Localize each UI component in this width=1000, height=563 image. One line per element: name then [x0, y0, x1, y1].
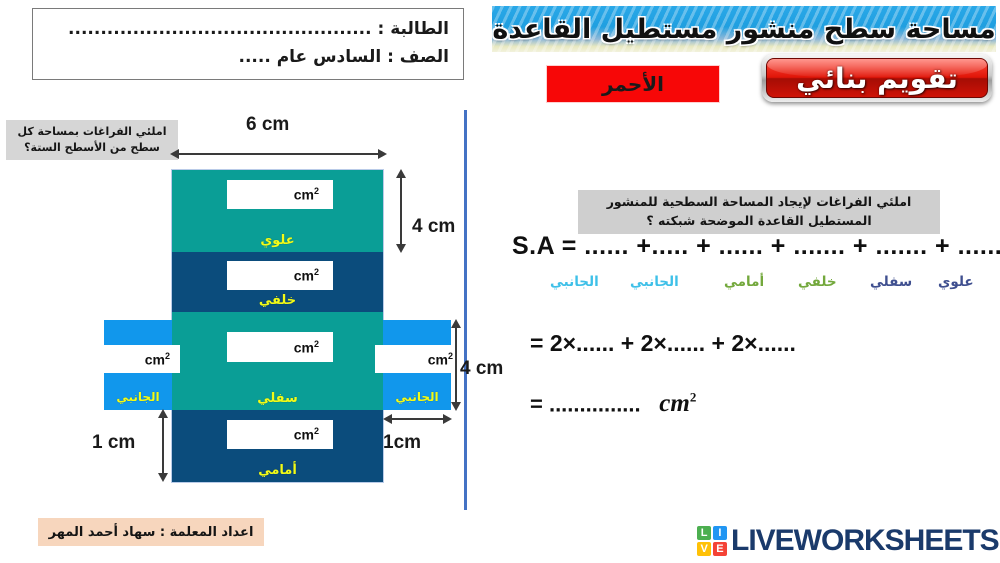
- teacher-credit-text: اعداد المعلمة : سهاد أحمد المهر: [49, 525, 254, 540]
- logo-cell-l: L: [697, 526, 711, 540]
- net-face-side-right-label: الجانبي: [383, 390, 451, 404]
- logo-cell-v: V: [697, 542, 711, 556]
- equation-term-labels: علوي سفلي خلفي أمامي الجانبي الجانبي: [550, 274, 998, 298]
- title-banner: مساحة سطح منشور مستطيل القاعدة: [492, 6, 996, 52]
- equation-line-3-unit: cm2: [647, 390, 697, 417]
- right-instruction-text: املئي الفراغات لإيجاد المساحة السطحية لل…: [588, 193, 930, 231]
- arrow-right-bottom-right: [443, 414, 452, 424]
- arrow-left-top: [170, 149, 179, 159]
- formative-evaluation-button[interactable]: تقويم بنائي: [762, 54, 992, 102]
- net-face-top-label: علوي: [172, 233, 383, 248]
- arrow-up-right-lower: [451, 319, 461, 328]
- unit-label-bottom: cm2: [294, 339, 319, 356]
- page-title: مساحة سطح منشور مستطيل القاعدة: [492, 14, 995, 45]
- equation-term-label-front: أمامي: [724, 274, 764, 290]
- red-label-box: الأحمر: [546, 65, 720, 103]
- answer-input-back[interactable]: cm2: [227, 261, 333, 290]
- liveworksheets-wordmark: LIVEWORKSHEETS: [731, 524, 999, 558]
- unit-label-side-right: cm2: [428, 351, 453, 368]
- logo-cell-i: I: [713, 526, 727, 540]
- equation-term-label-side-1: الجانبي: [630, 274, 679, 290]
- student-class-field[interactable]: الصف : السادس عام .....: [47, 43, 449, 71]
- equation-line-2[interactable]: = 2×...... + 2×...... + 2×......: [530, 330, 796, 357]
- net-face-front-label: أمامي: [172, 463, 383, 478]
- answer-input-front[interactable]: cm2: [227, 420, 333, 449]
- student-name-field[interactable]: الطالبة : ..............................…: [47, 15, 449, 43]
- prism-net-diagram: علوي خلفي سفلي أمامي الجانبي الجانبي cm2…: [0, 100, 464, 510]
- right-instruction-box: املئي الفراغات لإيجاد المساحة السطحية لل…: [578, 190, 940, 234]
- teacher-credit-box: اعداد المعلمة : سهاد أحمد المهر: [38, 518, 264, 546]
- formative-evaluation-label: تقويم بنائي: [796, 62, 958, 95]
- dimension-line-left-lower: [162, 418, 164, 473]
- vertical-divider: [464, 110, 467, 510]
- formative-evaluation-button-inner: تقويم بنائي: [766, 58, 988, 98]
- equation-line-3[interactable]: = ............... cm2: [530, 390, 696, 418]
- dimension-line-bottom-right: [391, 418, 443, 420]
- arrow-up-right-upper: [396, 169, 406, 178]
- net-face-back-label: خلفي: [172, 293, 383, 308]
- arrow-down-right-upper: [396, 244, 406, 253]
- dimension-width-bottom-right: 1cm: [383, 432, 421, 454]
- unit-label-back: cm2: [294, 267, 319, 284]
- equation-line-3-dots: = ...............: [530, 391, 641, 416]
- unit-label-side-left: cm2: [145, 351, 170, 368]
- dimension-line-top: [178, 153, 378, 155]
- answer-input-top[interactable]: cm2: [227, 180, 333, 209]
- net-face-bottom-label: سفلي: [172, 391, 383, 406]
- arrow-down-left-lower: [158, 473, 168, 482]
- liveworksheets-logo[interactable]: L I V E LIVEWORKSHEETS: [697, 524, 999, 558]
- dimension-line-right-upper: [400, 178, 402, 244]
- student-info-box: الطالبة : ..............................…: [32, 8, 464, 80]
- equation-term-label-back: خلفي: [798, 274, 837, 290]
- unit-label-top: cm2: [294, 186, 319, 203]
- equation-term-label-side-2: الجانبي: [550, 274, 599, 290]
- dimension-width-top: 6 cm: [246, 114, 289, 136]
- unit-label-front: cm2: [294, 426, 319, 443]
- equation-line-1[interactable]: S.A = ...... +..... + ...... + ....... +…: [512, 232, 1000, 261]
- net-face-side-left-label: الجانبي: [104, 390, 172, 404]
- logo-cell-e: E: [713, 542, 727, 556]
- arrow-left-bottom-right: [383, 414, 392, 424]
- answer-input-side-right[interactable]: cm2: [375, 345, 463, 373]
- arrow-right-top: [378, 149, 387, 159]
- dimension-line-right-lower: [455, 328, 457, 402]
- equation-term-label-bottom: سفلي: [870, 274, 912, 290]
- red-label-text: الأحمر: [602, 72, 664, 96]
- arrow-up-left-lower: [158, 409, 168, 418]
- dimension-height-left-lower: 1 cm: [92, 432, 135, 454]
- dimension-height-right-upper: 4 cm: [412, 216, 455, 238]
- worksheet-page: الطالبة : ..............................…: [0, 0, 1000, 563]
- surface-area-equation-area: S.A = ...... +..... + ...... + ....... +…: [490, 230, 1000, 430]
- answer-input-bottom[interactable]: cm2: [227, 332, 333, 362]
- equation-term-label-top: علوي: [938, 274, 974, 290]
- liveworksheets-logo-icon: L I V E: [697, 526, 727, 556]
- arrow-down-right-lower: [451, 402, 461, 411]
- answer-input-side-left[interactable]: cm2: [92, 345, 180, 373]
